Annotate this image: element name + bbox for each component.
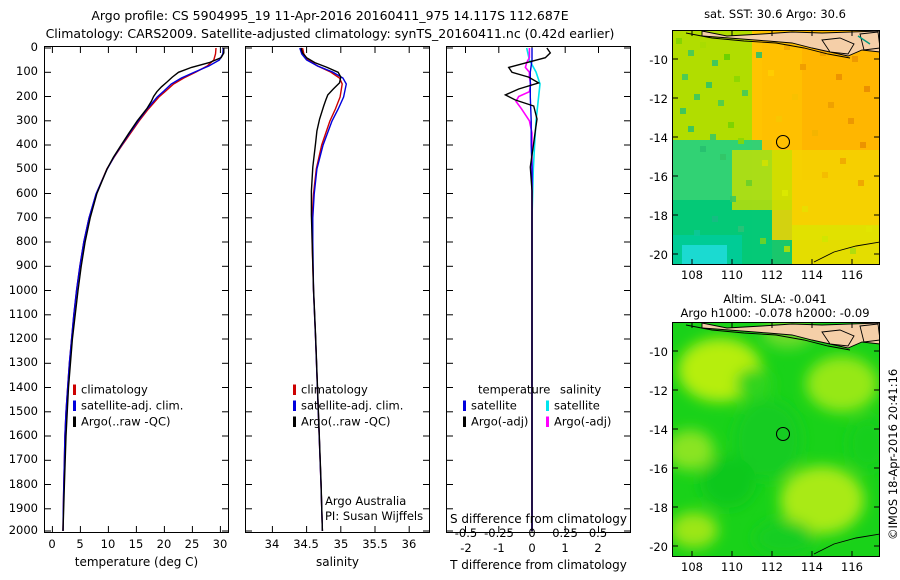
- sla-map-title-line1: Altim. SLA: -0.041: [660, 292, 890, 306]
- svg-text:satellite-adj. clim.: satellite-adj. clim.: [81, 399, 183, 413]
- sla-map-canvas: [672, 322, 880, 557]
- page-title-line1: Argo profile: CS 5904995_19 11-Apr-2016 …: [0, 8, 660, 23]
- depth-axis-labels: 0 100 200 300 400 500 600 700 800 900 10…: [0, 46, 40, 533]
- sla-map-yticks: -10 -12 -14 -16 -18 -20: [640, 322, 670, 557]
- svg-text:temperature: temperature: [478, 383, 550, 397]
- difference-plot: temperature satellite Argo(-adj) salinit…: [446, 46, 631, 533]
- svg-text:Argo Australia: Argo Australia: [325, 494, 406, 508]
- sst-map: [672, 30, 880, 265]
- sst-map-yticks: -10 -12 -14 -16 -18 -20: [640, 30, 670, 265]
- temperature-axis-label: temperature (deg C): [44, 555, 229, 569]
- temperature-plot: climatology satellite-adj. clim. Argo(..…: [44, 46, 229, 533]
- sdiff-axis-label: S difference from climatology: [446, 512, 631, 526]
- sst-map-title: sat. SST: 30.6 Argo: 30.6: [660, 7, 890, 21]
- sla-map-title-line2: Argo h1000: -0.078 h2000: -0.09: [655, 306, 895, 320]
- salinity-plot: climatology satellite-adj. clim. Argo(..…: [245, 46, 430, 533]
- svg-text:salinity: salinity: [560, 383, 601, 397]
- sla-map: [672, 322, 880, 557]
- svg-text:Argo(..raw -QC): Argo(..raw -QC): [301, 415, 391, 429]
- temperature-panel: climatology satellite-adj. clim. Argo(..…: [44, 46, 229, 533]
- svg-text:satellite: satellite: [471, 399, 517, 413]
- salinity-panel: climatology satellite-adj. clim. Argo(..…: [245, 46, 430, 533]
- tdiff-axis-label: T difference from climatology: [446, 558, 631, 572]
- svg-text:Argo(-adj): Argo(-adj): [554, 415, 611, 429]
- difference-panel: temperature satellite Argo(-adj) salinit…: [446, 46, 631, 533]
- svg-text:climatology: climatology: [301, 383, 368, 397]
- svg-text:PI: Susan Wijffels: PI: Susan Wijffels: [325, 509, 423, 523]
- svg-text:Argo(-adj): Argo(-adj): [471, 415, 528, 429]
- salinity-axis-label: salinity: [245, 555, 430, 569]
- svg-text:Argo(..raw -QC): Argo(..raw -QC): [81, 415, 171, 429]
- sst-map-canvas: [672, 30, 880, 265]
- svg-text:satellite: satellite: [554, 399, 600, 413]
- svg-text:climatology: climatology: [81, 383, 148, 397]
- svg-text:satellite-adj. clim.: satellite-adj. clim.: [301, 399, 403, 413]
- page-title-line2: Climatology: CARS2009. Satellite-adjuste…: [0, 26, 660, 41]
